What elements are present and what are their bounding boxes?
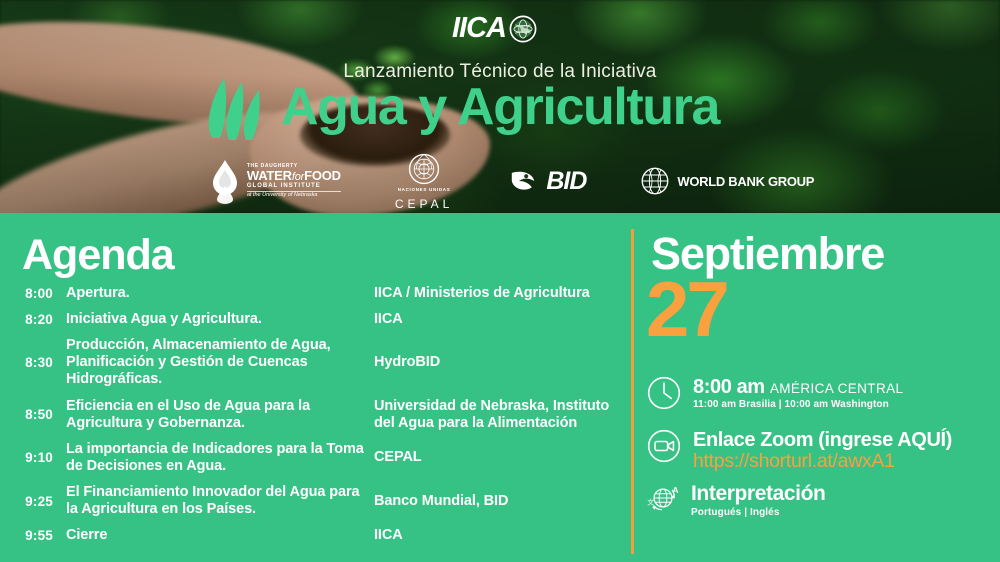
agenda-topic: Producción, Almacenamiento de Agua, Plan… <box>66 337 366 388</box>
agenda-topic: La importancia de Indicadores para la To… <box>66 441 366 475</box>
wff-line3: GLOBAL INSTITUTE <box>247 183 341 189</box>
agenda-time: 8:20 <box>0 312 66 327</box>
interpretation-label: Interpretación <box>691 482 825 506</box>
agenda-org: Banco Mundial, BID <box>366 493 625 510</box>
zoom-label: Enlace Zoom (ingrese AQUÍ) <box>693 429 952 451</box>
agenda-time: 9:25 <box>0 494 66 509</box>
agenda-topic: El Financiamiento Innovador del Agua par… <box>66 484 366 518</box>
interpretation-languages: Portugués | Inglés <box>691 507 825 518</box>
event-title: Agua y Agricultura <box>0 80 1000 135</box>
agenda-topic: Apertura. <box>66 285 366 302</box>
agenda-time: 8:00 <box>0 286 66 301</box>
agenda-time: 8:50 <box>0 407 66 422</box>
cepal-wordmark: CEPAL <box>395 197 453 211</box>
bid-wordmark: BID <box>546 167 586 196</box>
partner-bid: BID <box>507 165 586 197</box>
zoom-url[interactable]: https://shorturl.at/awxA1 <box>693 451 952 472</box>
vertical-divider <box>631 229 634 554</box>
wff-line4: at the University of Nebraska <box>247 191 341 199</box>
svg-text:文: 文 <box>647 497 654 506</box>
agenda-time: 9:10 <box>0 450 66 465</box>
world-bank-globe-icon <box>640 166 670 196</box>
partner-cepal: NACIONES UNIDAS CEPAL <box>395 152 453 211</box>
agenda-table: 8:00 Apertura. IICA / Ministerios de Agr… <box>0 285 625 553</box>
agenda-heading: Agenda <box>22 231 174 280</box>
partner-world-bank: WORLD BANK GROUP <box>640 166 814 196</box>
hero-banner: IICA Lanzamiento Técnico de la Iniciativ… <box>0 0 1000 213</box>
agenda-time: 9:55 <box>0 528 66 543</box>
table-row: 8:20 Iniciativa Agua y Agricultura. IICA <box>0 311 625 328</box>
agenda-topic: Eficiencia en el Uso de Agua para la Agr… <box>66 398 366 432</box>
event-timezone: AMÉRICA CENTRAL <box>770 381 904 396</box>
agenda-org: HydroBID <box>366 354 625 371</box>
partner-water-for-food: THE DAUGHERTY WATERforFOOD GLOBAL INSTIT… <box>210 158 341 204</box>
event-other-timezones: 11:00 am Brasilia | 10:00 am Washington <box>693 399 903 410</box>
clock-icon <box>646 375 682 411</box>
table-row: 8:50 Eficiencia en el Uso de Agua para l… <box>0 398 625 432</box>
world-bank-wordmark: WORLD BANK GROUP <box>677 174 814 189</box>
wff-line2: WATERforFOOD <box>247 169 341 184</box>
agenda-org: IICA <box>366 311 625 328</box>
interpretation-block: 文 A Interpretación Portugués | Inglés <box>646 481 996 518</box>
table-row: 9:25 El Financiamiento Innovador del Agu… <box>0 484 625 518</box>
agenda-org: IICA / Ministerios de Agricultura <box>366 285 625 302</box>
agenda-time: 8:30 <box>0 355 66 370</box>
iica-globe-icon <box>509 15 537 43</box>
water-drop-icon <box>210 158 240 204</box>
event-poster: IICA Lanzamiento Técnico de la Iniciativ… <box>0 0 1000 562</box>
agenda-org: IICA <box>366 527 625 544</box>
iica-wordmark: IICA <box>452 14 506 43</box>
bid-leaf-icon <box>507 165 539 197</box>
agenda-org: Universidad de Nebraska, Instituto del A… <box>366 398 625 432</box>
event-time-block: 8:00 am AMÉRICA CENTRAL 11:00 am Brasili… <box>646 375 996 411</box>
translate-globe-icon: 文 A <box>646 481 680 515</box>
svg-text:A: A <box>672 485 678 495</box>
partner-logos: THE DAUGHERTY WATERforFOOD GLOBAL INSTIT… <box>0 150 1000 212</box>
table-row: 9:10 La importancia de Indicadores para … <box>0 441 625 475</box>
video-camera-icon <box>646 428 682 464</box>
agenda-org: CEPAL <box>366 449 625 466</box>
un-sublabel: NACIONES UNIDAS <box>398 187 451 192</box>
event-time-value: 8:00 am AMÉRICA CENTRAL <box>693 376 903 398</box>
table-row: 8:00 Apertura. IICA / Ministerios de Agr… <box>0 285 625 302</box>
agenda-topic: Cierre <box>66 527 366 544</box>
iica-logo: IICA <box>452 14 537 43</box>
event-day: 27 <box>646 272 727 346</box>
united-nations-icon <box>407 152 441 186</box>
zoom-link-block[interactable]: Enlace Zoom (ingrese AQUÍ) https://short… <box>646 428 996 473</box>
table-row: 8:30 Producción, Almacenamiento de Agua,… <box>0 337 625 388</box>
agenda-topic: Iniciativa Agua y Agricultura. <box>66 311 366 328</box>
table-row: 9:55 Cierre IICA <box>0 527 625 544</box>
